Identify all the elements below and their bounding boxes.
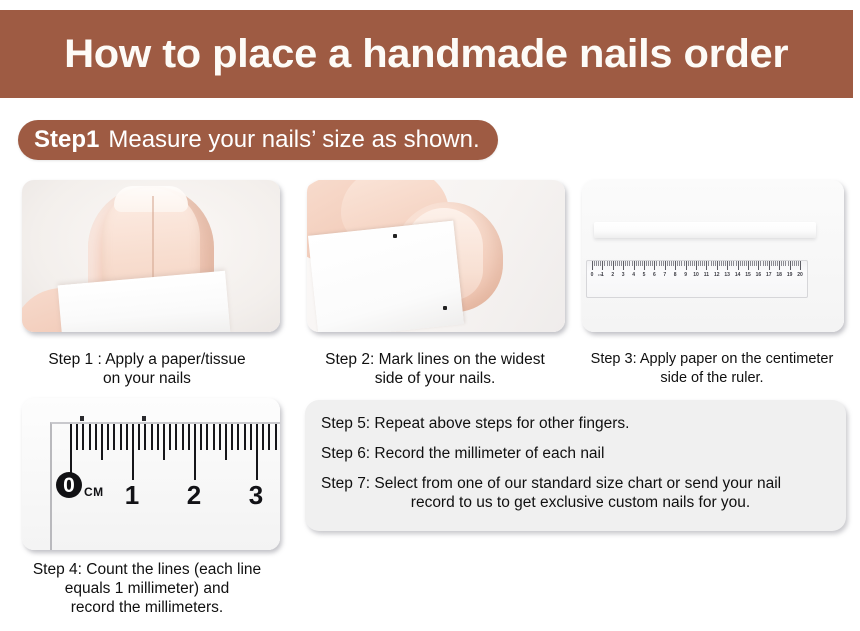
caption-step4-line3: record the millimeters. (6, 598, 288, 617)
photo4-ruler-number: 2 (187, 482, 201, 508)
photo3-tick-minor (619, 261, 620, 266)
photo3-tick-minor (684, 261, 685, 266)
photo3-tick-minor (704, 261, 705, 266)
page-title: How to place a handmade nails order (64, 34, 788, 74)
photo4-tick (188, 424, 190, 450)
photo4-zero-label: 0 (56, 472, 82, 498)
photo3-tick-minor (596, 261, 597, 266)
photo3-tick-minor (671, 261, 672, 266)
photo4-pencil-mark-end (142, 416, 146, 421)
photo4-ruler-number: 1 (125, 482, 139, 508)
photo3-tick-minor (609, 261, 610, 266)
photo3-ruler-number: 7 (663, 273, 666, 278)
photo-card-step3: 01234567891011121314151617181920cm (582, 180, 844, 332)
photo3-tick-major (592, 261, 593, 270)
photo3-ruler-number: 19 (787, 273, 793, 278)
photo3-tick-minor (723, 261, 724, 266)
photo3-tick-minor (679, 261, 680, 266)
photo3-tick-major (644, 261, 645, 270)
photo3-tick-major (800, 261, 801, 270)
photo4-tick (89, 424, 91, 450)
photo4-tick (244, 424, 246, 450)
photo3-tick-minor (629, 261, 630, 266)
photo3-tick-major (738, 261, 739, 270)
step5-line: Step 5: Repeat above steps for other fin… (321, 414, 830, 433)
photo3-tick-minor (788, 261, 789, 266)
photo3-tick-minor (607, 261, 608, 266)
photo3-tick-major (654, 261, 655, 270)
photo3-tick-minor (636, 261, 637, 266)
photo3-tick-minor (760, 261, 761, 266)
photo3-tick-minor (650, 261, 651, 266)
step1-pill-text: Measure your nails’ size as shown. (108, 128, 479, 152)
photo3-tick-major (706, 261, 707, 270)
photo3-ruler-number: 2 (611, 273, 614, 278)
photo3-tick-minor (702, 261, 703, 266)
photo3-tick-minor (708, 261, 709, 266)
photo4-tick (151, 424, 153, 450)
photo3-ruler-ticks (587, 261, 807, 271)
caption-step1-line2: on your nails (6, 369, 288, 388)
photo3-ruler-number: 6 (653, 273, 656, 278)
photo4-tick (262, 424, 264, 450)
photo3-tick-minor (594, 261, 595, 266)
photo3-tick-minor (713, 261, 714, 266)
photo4-tick (256, 424, 258, 480)
photo3-tick-minor (775, 261, 776, 266)
photo3-ruler-number: 14 (735, 273, 741, 278)
photo3-tick-minor (750, 261, 751, 266)
photo4-tick (157, 424, 159, 450)
photo4-tick (250, 424, 252, 450)
photo3-tick-minor (669, 261, 670, 266)
photo4-tick (163, 424, 165, 460)
photo3-tick-minor (667, 261, 668, 266)
photo3-tick-minor (604, 261, 605, 266)
photo3-ruler-number: 9 (684, 273, 687, 278)
photo3-tick-minor (652, 261, 653, 266)
photo3-tick-minor (663, 261, 664, 266)
header-banner: How to place a handmade nails order (0, 10, 853, 98)
photo3-tick-major (623, 261, 624, 270)
photo4-tick (200, 424, 202, 450)
caption-step4-line1: Step 4: Count the lines (each line (6, 560, 288, 579)
paper-strip-on-ruler-image: 01234567891011121314151617181920cm (582, 180, 844, 332)
photo3-tick-minor (681, 261, 682, 266)
photo3-ruler-number: 18 (776, 273, 782, 278)
caption-step1-line1: Step 1 : Apply a paper/tissue (6, 350, 288, 369)
photo3-tick-major (675, 261, 676, 270)
photo3-tick-minor (742, 261, 743, 266)
photo-card-step2 (307, 180, 565, 332)
photo3-ruler-number: 8 (674, 273, 677, 278)
photo4-tick (213, 424, 215, 450)
photo3-tick-minor (792, 261, 793, 266)
photo3-tick-minor (736, 261, 737, 266)
photo2-mark-bottom (443, 306, 447, 310)
photo3-ruler-number: 13 (724, 273, 730, 278)
photo4-tick (231, 424, 233, 450)
photo3-tick-minor (740, 261, 741, 266)
photo3-tick-minor (700, 261, 701, 266)
photo-card-step1 (22, 180, 280, 332)
step7-line2: record to us to get exclusive custom nai… (321, 493, 830, 512)
caption-step3-line1: Step 3: Apply paper on the centimeter (571, 350, 853, 369)
photo3-tick-minor (621, 261, 622, 266)
photo3-ruler-number: 10 (693, 273, 699, 278)
step7-line: Step 7: Select from one of our standard … (321, 474, 830, 512)
photo3-ruler-number: 0 (591, 273, 594, 278)
photo3-tick-minor (617, 261, 618, 266)
photo3-tick-minor (785, 261, 786, 266)
photo2-paper-strip (308, 221, 464, 332)
photo3-tick-minor (725, 261, 726, 266)
photo3-tick-minor (688, 261, 689, 266)
photo3-tick-minor (771, 261, 772, 266)
photo4-tick (225, 424, 227, 460)
photo3-tick-minor (763, 261, 764, 266)
photo1-nail-tip (114, 186, 188, 212)
photo3-tick-major (790, 261, 791, 270)
photo3-tick-minor (632, 261, 633, 266)
photo4-tick (237, 424, 239, 450)
photo4-tick (82, 424, 84, 450)
photo3-tick-minor (673, 261, 674, 266)
ruler-closeup-image: 123 0 CM (22, 398, 280, 550)
photo3-tick-minor (638, 261, 639, 266)
photo3-ruler-number: 16 (756, 273, 762, 278)
photo3-tick-minor (600, 261, 601, 266)
photo3-tick-minor (615, 261, 616, 266)
photo3-tick-minor (656, 261, 657, 266)
photo4-tick (182, 424, 184, 450)
photo-card-step4: 123 0 CM (22, 398, 280, 550)
photo3-tick-minor (754, 261, 755, 266)
step7-line1: Step 7: Select from one of our standard … (321, 475, 781, 492)
photo3-tick-major (758, 261, 759, 270)
photo3-tick-major (769, 261, 770, 270)
caption-step3: Step 3: Apply paper on the centimeter si… (571, 350, 853, 388)
photo3-tick-minor (625, 261, 626, 266)
photo3-tick-minor (661, 261, 662, 266)
photo3-tick-minor (694, 261, 695, 266)
photo3-tick-minor (659, 261, 660, 266)
photo4-tick (194, 424, 196, 480)
caption-step2-line2: side of your nails. (296, 369, 574, 388)
photo3-tick-minor (773, 261, 774, 266)
photo3-tick-minor (598, 261, 599, 266)
photo3-tick-minor (744, 261, 745, 266)
photo4-tick (138, 424, 140, 450)
photo3-tick-minor (646, 261, 647, 266)
photo3-tick-minor (729, 261, 730, 266)
photo3-tick-minor (721, 261, 722, 266)
caption-step2: Step 2: Mark lines on the widest side of… (296, 350, 574, 388)
photo3-tick-major (727, 261, 728, 270)
photo4-tick (175, 424, 177, 450)
photo3-tick-major (779, 261, 780, 270)
photo3-tick-minor (627, 261, 628, 266)
photo3-tick-minor (640, 261, 641, 266)
photo3-tick-minor (733, 261, 734, 266)
photo3-tick-minor (752, 261, 753, 266)
photo3-tick-minor (765, 261, 766, 266)
photo4-tick (113, 424, 115, 450)
photo3-tick-minor (798, 261, 799, 266)
steps-5-to-7-panel: Step 5: Repeat above steps for other fin… (305, 400, 846, 531)
photo3-ruler-number: 3 (622, 273, 625, 278)
photo4-tick (275, 424, 277, 450)
photo3-tick-minor (690, 261, 691, 266)
photo4-tick (107, 424, 109, 450)
photo3-tick-major (696, 261, 697, 270)
marking-paper-on-nail-image (307, 180, 565, 332)
photo3-tick-major (602, 261, 603, 270)
photo4-tick (169, 424, 171, 450)
photo3-tick-minor (715, 261, 716, 266)
photo4-tick (76, 424, 78, 450)
photo3-tick-minor (783, 261, 784, 266)
photo4-tick (268, 424, 270, 450)
photo4-tick (219, 424, 221, 450)
photo4-tick (206, 424, 208, 450)
photo3-ruler: 01234567891011121314151617181920cm (586, 260, 808, 298)
photo4-tick (120, 424, 122, 450)
photo4-tick (101, 424, 103, 460)
photo3-tick-minor (642, 261, 643, 266)
photo4-tick (95, 424, 97, 450)
photo3-tick-minor (611, 261, 612, 266)
finger-with-paper-strip-image (22, 180, 280, 332)
photo3-tick-major (717, 261, 718, 270)
caption-step4: Step 4: Count the lines (each line equal… (6, 560, 288, 617)
photo3-tick-minor (711, 261, 712, 266)
photo3-tick-minor (731, 261, 732, 266)
caption-step2-line1: Step 2: Mark lines on the widest (296, 350, 574, 369)
photo4-tick (144, 424, 146, 450)
photo3-tick-minor (719, 261, 720, 266)
photo4-tick (132, 424, 134, 480)
photo3-ruler-number: 11 (704, 273, 709, 278)
photo3-paper-strip (594, 222, 816, 238)
photo3-ruler-number: 5 (643, 273, 646, 278)
photo3-tick-minor (777, 261, 778, 266)
photo3-ruler-number: 4 (632, 273, 635, 278)
photo1-nail-crease (152, 196, 154, 278)
caption-step4-line2: equals 1 millimeter) and (6, 579, 288, 598)
step1-pill-strong-label: Step1 (34, 128, 99, 152)
photo3-tick-minor (781, 261, 782, 266)
photo3-ruler-number: 17 (766, 273, 772, 278)
photo3-ruler-number: 15 (745, 273, 751, 278)
photo4-ruler-number: 3 (249, 482, 263, 508)
photo4-unit-label: CM (84, 486, 104, 498)
photo3-ruler-number: 12 (714, 273, 720, 278)
photo3-tick-minor (756, 261, 757, 266)
photo3-tick-minor (796, 261, 797, 266)
photo4-pencil-mark-start (80, 416, 84, 421)
photo3-tick-minor (648, 261, 649, 266)
photo3-background (582, 180, 844, 332)
photo3-tick-minor (746, 261, 747, 266)
photo3-tick-major (665, 261, 666, 270)
photo2-mark-top (393, 234, 397, 238)
step6-line: Step 6: Record the millimeter of each na… (321, 444, 830, 463)
photo3-unit-label: cm (598, 273, 603, 277)
photo3-tick-minor (794, 261, 795, 266)
photo3-tick-major (634, 261, 635, 270)
photo3-tick-minor (677, 261, 678, 266)
photo3-tick-major (686, 261, 687, 270)
photo3-ruler-number: 20 (797, 273, 803, 278)
photo3-tick-minor (767, 261, 768, 266)
caption-step3-line2: side of the ruler. (571, 369, 853, 388)
step1-pill: Step1 Measure your nails’ size as shown. (18, 120, 498, 160)
photo3-tick-major (613, 261, 614, 270)
photo4-tick (126, 424, 128, 450)
photo3-tick-minor (698, 261, 699, 266)
photo3-tick-minor (692, 261, 693, 266)
caption-step1: Step 1 : Apply a paper/tissue on your na… (6, 350, 288, 388)
photo3-tick-major (748, 261, 749, 270)
